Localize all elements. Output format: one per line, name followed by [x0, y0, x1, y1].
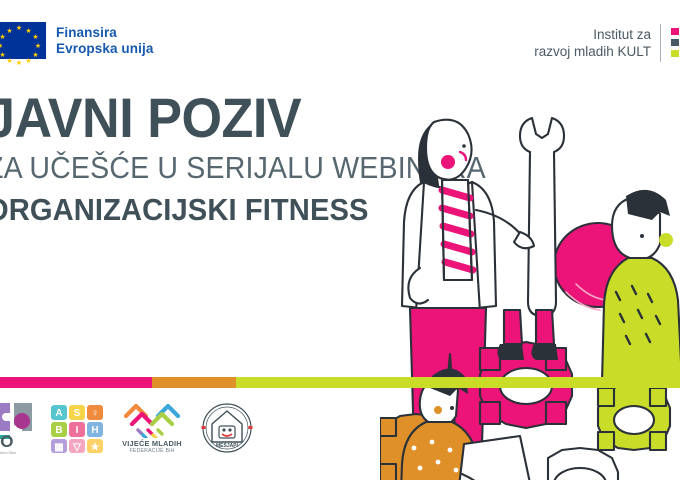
eu-funding-line1: Finansira	[56, 25, 153, 41]
mesjapi-label: MESJAPI	[216, 443, 239, 449]
institute-text: Institut za razvoj mladih KULT	[534, 26, 651, 60]
svg-text:▦: ▦	[54, 442, 63, 453]
vijece-mladih-sublabel: FEDERACIJE BiH	[118, 448, 186, 455]
poster-canvas: ★ ★ ★ ★ ★ ★ ★ ★ ★ ★ ★ ★ Finansira Evrops…	[0, 0, 680, 480]
partner-logo-strip: CO Cooperation Office A S	[0, 398, 256, 460]
svg-text:A: A	[55, 408, 62, 419]
partner-logo-mesjapi: MESJAPI	[200, 402, 256, 456]
eu-flag-icon: ★ ★ ★ ★ ★ ★ ★ ★ ★ ★ ★ ★	[0, 22, 46, 59]
partner-logo-vijece-mladih: VIJEĆE MLADIH FEDERACIJE BiH	[118, 400, 186, 458]
vijece-mladih-label: VIJEĆE MLADIH	[118, 439, 186, 448]
house-mascot-badge-icon: MESJAPI	[200, 402, 254, 454]
svg-text:H: H	[91, 425, 98, 436]
proco-wordmark: CO	[0, 433, 14, 450]
chevron-heart-icon	[122, 400, 182, 438]
eu-funding-text: Finansira Evropska unija	[56, 25, 153, 57]
eu-funding-lockup: ★ ★ ★ ★ ★ ★ ★ ★ ★ ★ ★ ★ Finansira Evrops…	[0, 22, 153, 59]
colorbar-segment-lime	[236, 377, 680, 388]
svg-text:S: S	[74, 408, 81, 419]
kult-logo-mark-icon	[670, 24, 680, 62]
institute-divider	[660, 24, 661, 62]
institute-lockup: Institut za razvoj mladih KULT	[534, 24, 680, 62]
colorbar-segment-orange	[152, 377, 236, 388]
wrench-icon	[520, 118, 564, 316]
svg-text:I: I	[76, 425, 79, 436]
blocks-grid-icon: A S ♀ B I H ▦ ▽ ★	[50, 404, 104, 454]
svg-text:▽: ▽	[72, 442, 81, 453]
teamwork-gears-illustration	[380, 60, 680, 480]
svg-text:B: B	[55, 425, 62, 436]
svg-text:★: ★	[91, 442, 100, 453]
proco-tagline: Cooperation Office	[0, 451, 16, 456]
institute-line1: Institut za	[534, 26, 651, 43]
eu-funding-line2: Evropska unija	[56, 41, 153, 57]
partner-logo-asbih: A S ♀ B I H ▦ ▽ ★	[50, 404, 104, 454]
svg-text:♀: ♀	[91, 408, 99, 419]
colorbar-segment-magenta	[0, 377, 152, 388]
partner-logo-proco: CO Cooperation Office	[0, 401, 36, 457]
colorbar	[0, 377, 680, 388]
man-in-lime-sweater-figure	[602, 190, 680, 382]
institute-line2: razvoj mladih KULT	[534, 43, 651, 60]
